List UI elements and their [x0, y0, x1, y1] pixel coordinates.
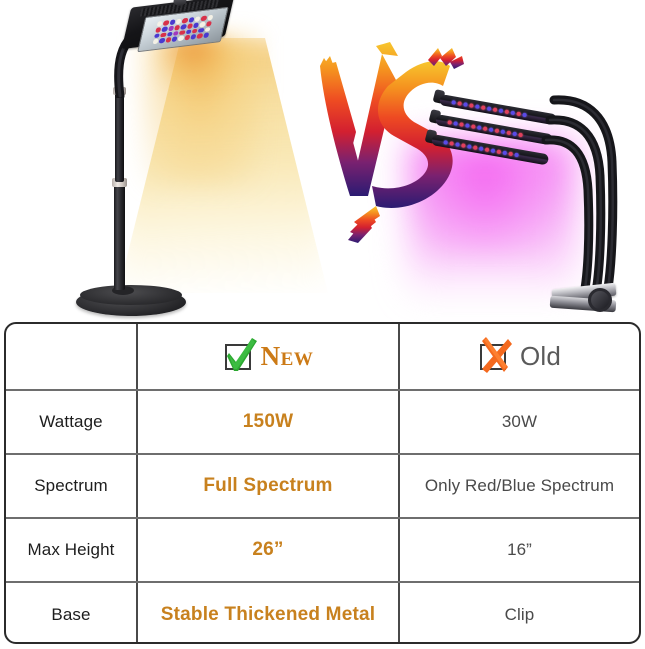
clip-spring-hinge [588, 288, 612, 312]
row-label-cell: Max Height [6, 518, 137, 582]
old-value: Clip [505, 605, 535, 624]
header-cell-new: New [137, 324, 399, 390]
table-row: Wattage 150W 30W [6, 390, 639, 454]
row-label-cell: Wattage [6, 390, 137, 454]
row-label-cell: Spectrum [6, 454, 137, 518]
feature-label: Wattage [39, 412, 102, 431]
header-cell-old: Old [399, 324, 639, 390]
hero-product-photo [0, 0, 645, 322]
old-value: 30W [502, 412, 537, 431]
lamp-pole-upper [115, 92, 124, 182]
table-row: Max Height 26” 16” [6, 518, 639, 582]
feature-label: Base [51, 605, 90, 624]
row-old-cell: 16” [399, 518, 639, 582]
row-old-cell: Clip [399, 582, 639, 644]
old-clip-grow-light [420, 70, 645, 322]
new-value: 26” [252, 539, 283, 560]
lamp-pole-lower [114, 182, 125, 290]
comparison-table: New [6, 324, 639, 644]
row-new-cell: 150W [137, 390, 399, 454]
old-lamp-clip-base [548, 278, 620, 316]
new-value: 150W [243, 411, 293, 432]
checkmark-icon [223, 341, 255, 373]
feature-label: Max Height [28, 540, 115, 559]
header-cell-feature [6, 324, 137, 390]
lamp-head [124, 0, 234, 64]
old-value: Only Red/Blue Spectrum [425, 476, 614, 495]
table-row: Base Stable Thickened Metal Clip [6, 582, 639, 644]
new-value: Full Spectrum [203, 475, 332, 496]
table-row: Spectrum Full Spectrum Only Red/Blue Spe… [6, 454, 639, 518]
feature-label: Spectrum [34, 476, 108, 495]
row-label-cell: Base [6, 582, 137, 644]
new-value: Stable Thickened Metal [161, 604, 376, 625]
row-new-cell: Full Spectrum [137, 454, 399, 518]
row-new-cell: 26” [137, 518, 399, 582]
led-grid [153, 15, 214, 45]
new-floor-grow-light [0, 0, 330, 322]
row-old-cell: 30W [399, 390, 639, 454]
product-comparison-image: New [0, 0, 645, 649]
table-header-row: New [6, 324, 639, 390]
header-old-label: Old [520, 341, 561, 372]
header-new-label: New [261, 341, 314, 372]
comparison-table-card: New [4, 322, 641, 644]
cross-icon [478, 341, 510, 373]
row-old-cell: Only Red/Blue Spectrum [399, 454, 639, 518]
row-new-cell: Stable Thickened Metal [137, 582, 399, 644]
old-value: 16” [507, 540, 532, 559]
gooseneck-3 [542, 132, 622, 302]
